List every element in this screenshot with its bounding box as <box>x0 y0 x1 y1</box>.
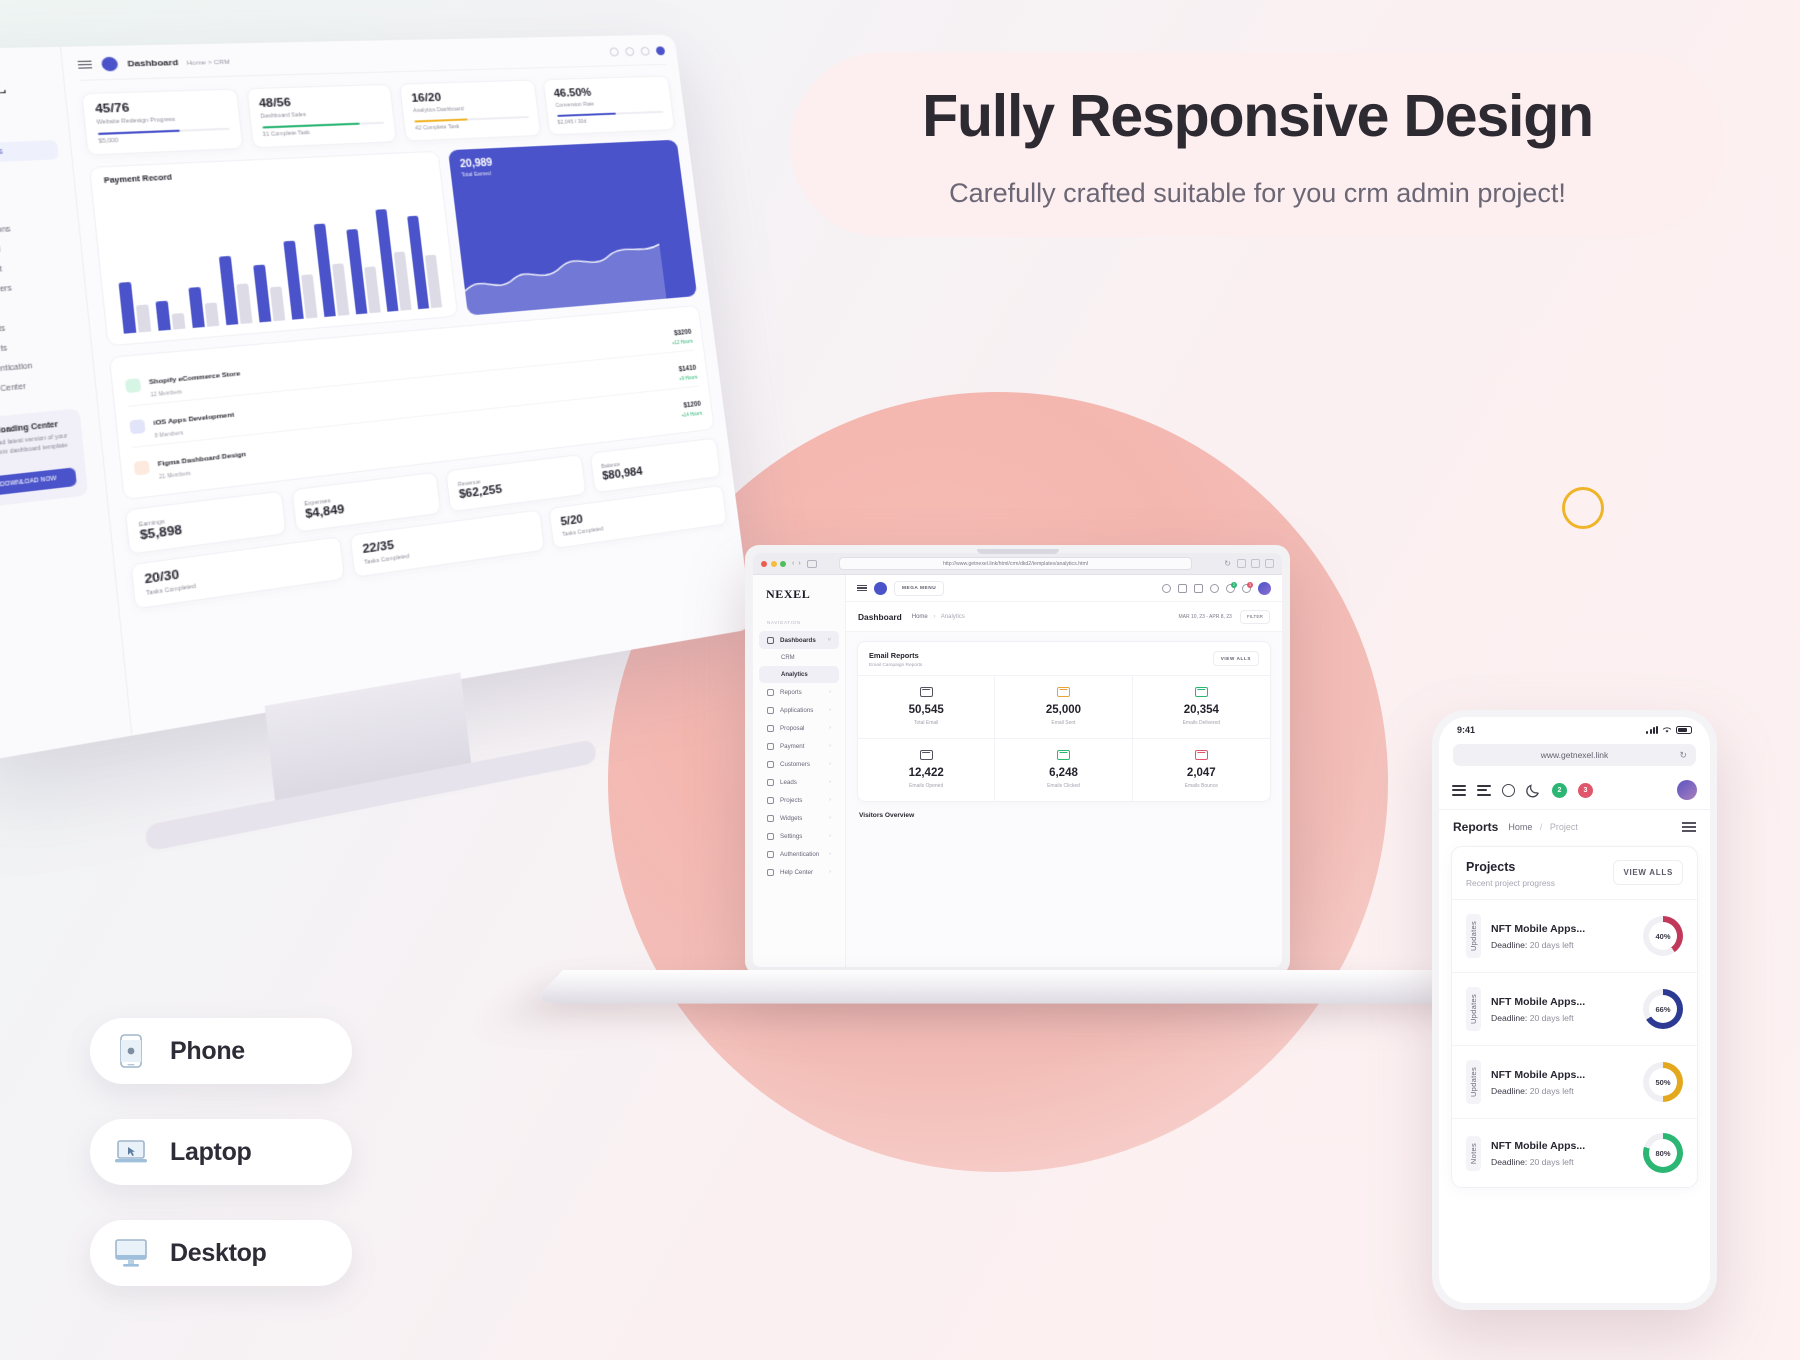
email-stat-emails-opened: 12,422 Emails Opened <box>858 738 995 801</box>
dashboard-icon <box>767 637 774 644</box>
help-icon <box>767 869 774 876</box>
url-text: www.getnexel.link <box>1541 750 1609 760</box>
device-pill-desktop[interactable]: Desktop <box>90 1220 352 1286</box>
email-stat-emails-delivered: 20,354 Emails Delivered <box>1133 675 1270 738</box>
search-icon[interactable] <box>609 47 619 56</box>
address-bar[interactable]: http://www.getnexel.link/html/crm/dkd2/t… <box>839 557 1193 570</box>
progress-percent: 66% <box>1649 995 1677 1023</box>
stat-amount: 31 Complete Task <box>262 127 385 138</box>
desktop-page-title: Dashboard <box>127 58 179 69</box>
laptop-base <box>531 970 1500 1004</box>
chevron-right-icon: › <box>933 614 935 620</box>
chevron-right-icon: › <box>829 743 831 749</box>
page-subtitle: Carefully crafted suitable for you crm a… <box>790 178 1725 209</box>
nav-label: Widgets <box>0 345 8 356</box>
moon-icon[interactable] <box>1526 783 1541 798</box>
laptop-logo: NEXEL <box>766 587 839 602</box>
sidebar-item-label: CRM <box>781 655 795 661</box>
stat-value: 50,545 <box>864 704 988 716</box>
laptop-main: MEGA MENU 2 3 <box>846 575 1282 967</box>
stat-card: 48/56 Dashboard Sales 31 Complete Task <box>246 84 398 149</box>
envelope-send-icon <box>1057 687 1070 697</box>
device-pill-label: Phone <box>170 1037 245 1066</box>
desktop-topbar-actions <box>609 46 665 56</box>
sidebar-item-label: Applications <box>780 707 813 714</box>
flag-icon[interactable] <box>1178 584 1187 593</box>
grid-icon[interactable]: 2 <box>1226 584 1235 593</box>
promo-desc: Download latest version of your crm admi… <box>0 432 74 469</box>
phone-breadcrumb-row: Reports Home / Project <box>1439 810 1710 843</box>
maximize-icon <box>780 561 786 567</box>
list-item[interactable]: Updates NFT Mobile Apps... Deadline: 20 … <box>1452 972 1697 1045</box>
status-indicators <box>1646 726 1692 734</box>
deadline-value: 20 days left <box>1530 940 1574 950</box>
laptop-mockup: ‹ › http://www.getnexel.link/html/crm/dk… <box>745 545 1290 975</box>
close-icon <box>761 561 767 567</box>
email-stat-email-sent: 25,000 Email Sent <box>995 675 1132 738</box>
stat-label: Email Sent <box>1001 720 1125 726</box>
laptop-sidebar: NEXEL NAVIGATION Dashboards ˅ CRM Analyt… <box>753 575 846 967</box>
project-amount: $1200 <box>683 401 701 410</box>
project-sub: 8 Members <box>155 425 236 439</box>
nav-label: Applications <box>0 226 11 237</box>
stat-amount: $5,000 <box>98 134 230 146</box>
progress-donut: 50% <box>1643 1062 1683 1102</box>
progress-percent: 80% <box>1649 1139 1677 1167</box>
sidebar-item-label: Help Center <box>780 869 813 876</box>
breadcrumb-current: Analytics <box>941 614 965 620</box>
project-icon <box>125 378 141 393</box>
envelope-open-icon <box>920 750 933 760</box>
proposal-icon <box>767 725 774 732</box>
payment-icon <box>767 743 774 750</box>
bell-badge[interactable]: 3 <box>1578 783 1593 798</box>
chevron-right-icon: › <box>829 689 831 695</box>
project-icon <box>134 460 150 475</box>
reload-icon[interactable]: ↻ <box>1224 559 1231 568</box>
mini-stat: Revenue $62,255 <box>445 454 586 513</box>
nav-label: Authentication <box>0 362 33 375</box>
battery-icon <box>1676 726 1692 734</box>
signal-icon <box>1646 726 1658 734</box>
desktop-nav-section: NAVIGATION <box>0 127 56 138</box>
laptop-screen: ‹ › http://www.getnexel.link/html/crm/dk… <box>753 553 1282 967</box>
sidebar-item-help-center[interactable]: Help Center› <box>759 863 839 881</box>
search-icon[interactable] <box>1162 584 1171 593</box>
nav-label: Projects <box>0 325 6 336</box>
lock-icon <box>767 851 774 858</box>
row-tag: Updates <box>1466 987 1481 1031</box>
chevron-right-icon: › <box>829 707 831 713</box>
reports-icon <box>767 689 774 696</box>
stat-amount: 42 Complete Task <box>415 121 530 132</box>
row-deadline: Deadline: 20 days left <box>1491 940 1585 950</box>
gear-icon <box>767 833 774 840</box>
stat-label: Website Redesign Progress <box>96 115 228 126</box>
laptop-app: NEXEL NAVIGATION Dashboards ˅ CRM Analyt… <box>753 575 1282 967</box>
project-amount: $3200 <box>674 329 692 338</box>
stat-value: 20,354 <box>1139 704 1264 716</box>
sidebar-item-proposal[interactable]: Proposal› <box>759 719 839 737</box>
device-pill-label: Desktop <box>170 1239 267 1268</box>
laptop-icon <box>112 1133 150 1171</box>
row-title: NFT Mobile Apps... <box>1491 923 1585 935</box>
brand-badge <box>874 582 887 595</box>
sidebar-item-label: Authentication <box>780 851 819 858</box>
chevron-right-icon: › <box>829 797 831 803</box>
phone-projects-card: Projects Recent project progress VIEW AL… <box>1451 846 1698 1188</box>
breadcrumb-home[interactable]: Home <box>1508 822 1532 832</box>
laptop-topbar-actions: 2 3 <box>1162 582 1271 595</box>
breadcrumb-current: Project <box>1550 822 1578 832</box>
stat-card: 46.50% Conversion Rate $2,045 / 30d <box>542 75 675 135</box>
desktop-screen: NEXEL NAVIGATION Dashboards CRM Analytic… <box>0 35 753 763</box>
sidebar-item-projects[interactable]: Projects› <box>759 791 839 809</box>
sidebar-item-dashboards[interactable]: Dashboards ˅ <box>759 631 839 649</box>
sidebar-item-label: Customers <box>780 761 810 768</box>
bell-icon[interactable]: 3 <box>1242 584 1251 593</box>
stat-card: 45/76 Website Redesign Progress $5,000 <box>81 88 243 156</box>
breadcrumb: Home › Analytics <box>912 614 965 620</box>
chevron-right-icon: › <box>829 815 831 821</box>
deadline-value: 20 days left <box>1530 1086 1574 1096</box>
email-reports-card: Email Reports Email Campaign Reports VIE… <box>857 641 1271 802</box>
desktop-logo: NEXEL <box>0 78 52 101</box>
menu-icon[interactable] <box>78 60 93 69</box>
projects-title: Projects <box>1466 860 1555 874</box>
stat-value: 25,000 <box>1001 704 1125 716</box>
promo-download-button[interactable]: DOWNLOAD NOW <box>0 467 77 497</box>
breadcrumb: Home / Project <box>1508 822 1578 832</box>
stat-value: 6,248 <box>1001 767 1125 779</box>
sidebar-item-leads[interactable]: Leads› <box>759 773 839 791</box>
stat-label: Analytics Dashboard <box>413 104 528 114</box>
grid-badge: 2 <box>1231 582 1237 588</box>
minimize-icon <box>771 561 777 567</box>
nav-label: Customers <box>0 285 12 296</box>
sidebar-item-widgets[interactable]: Widgets› <box>759 809 839 827</box>
sidebar-toggle-icon[interactable] <box>807 560 817 568</box>
row-title: NFT Mobile Apps... <box>1491 996 1585 1008</box>
laptop-page-actions: MAR 10, 23 - APR 8, 23 FILTER <box>1178 610 1270 624</box>
list-item[interactable]: Updates NFT Mobile Apps... Deadline: 20 … <box>1452 1045 1697 1118</box>
share-icon[interactable] <box>1237 559 1246 568</box>
laptop-notch <box>977 549 1059 554</box>
sidebar-item-settings[interactable]: Settings› <box>759 827 839 845</box>
sidebar-item-applications[interactable]: Applications› <box>759 701 839 719</box>
grid-icon[interactable] <box>625 47 635 56</box>
options-icon[interactable] <box>1682 822 1696 832</box>
traffic-lights[interactable] <box>761 561 786 567</box>
project-growth: +14 Hours <box>681 411 702 418</box>
list-item[interactable]: Notes NFT Mobile Apps... Deadline: 20 da… <box>1452 1118 1697 1187</box>
filter-button[interactable]: FILTER <box>1240 610 1270 624</box>
phone-page-title: Reports <box>1453 820 1498 834</box>
avatar[interactable] <box>1258 582 1271 595</box>
sidebar-item-label: Settings <box>780 833 802 840</box>
laptop-topbar: MEGA MENU 2 3 <box>846 575 1282 602</box>
area-chart <box>458 221 666 316</box>
phone-screen: 9:41 www.getnexel.link ↻ <box>1439 717 1710 1303</box>
sidebar-item-label: Proposal <box>780 725 804 732</box>
search-icon[interactable] <box>1502 784 1515 797</box>
leads-icon <box>767 779 774 786</box>
stat-value: 46.50% <box>553 84 661 99</box>
poster-canvas: Fully Responsive Design Carefully crafte… <box>0 0 1800 1360</box>
sidebar-item-authentication[interactable]: Authentication› <box>759 845 839 863</box>
sidebar-item-label: Leads <box>780 779 797 786</box>
phone-icon <box>112 1032 150 1070</box>
chevron-right-icon: › <box>829 761 831 767</box>
wifi-icon <box>1662 726 1672 734</box>
laptop-nav-section: NAVIGATION <box>767 620 839 625</box>
row-title: NFT Mobile Apps... <box>1491 1140 1585 1152</box>
chevron-right-icon: › <box>829 869 831 875</box>
mini-stat: Expenses $4,849 <box>291 472 442 533</box>
laptop-lid: ‹ › http://www.getnexel.link/html/crm/dk… <box>745 545 1290 975</box>
email-stat-emails-clicked: 6,248 Emails Clicked <box>995 738 1132 801</box>
avatar[interactable] <box>656 46 666 55</box>
deadline-label: Deadline: <box>1491 1013 1527 1023</box>
add-tab-icon[interactable] <box>1251 559 1260 568</box>
row-tag: Notes <box>1466 1136 1481 1171</box>
phone-status-bar: 9:41 <box>1439 717 1710 739</box>
chevron-right-icon: › <box>829 779 831 785</box>
chevron-right-icon: / <box>1540 822 1543 832</box>
chevron-right-icon: › <box>829 851 831 857</box>
project-amount: $1410 <box>679 365 697 374</box>
stat-label: Emails Clicked <box>1001 783 1125 789</box>
nav-label: Dashboards <box>0 148 3 158</box>
deadline-label: Deadline: <box>1491 1086 1527 1096</box>
page-title: Fully Responsive Design <box>790 84 1725 149</box>
row-tag: Updates <box>1466 1060 1481 1104</box>
project-growth: +9 Hours <box>679 375 698 382</box>
sidebar-item-label: Dashboards <box>780 637 816 644</box>
reload-icon[interactable]: ↻ <box>1679 750 1687 761</box>
widgets-icon <box>767 815 774 822</box>
stat-label: Emails Delivered <box>1139 720 1264 726</box>
phone-address-bar[interactable]: www.getnexel.link ↻ <box>1453 744 1696 766</box>
fullscreen-icon[interactable] <box>1194 584 1203 593</box>
envelope-icon <box>920 687 933 697</box>
back-icon[interactable]: ‹ <box>792 560 794 567</box>
sidebar-item-payment[interactable]: Payment› <box>759 737 839 755</box>
stat-value: 2,047 <box>1139 767 1264 779</box>
device-pill-phone[interactable]: Phone <box>90 1018 352 1084</box>
row-deadline: Deadline: 20 days left <box>1491 1086 1585 1096</box>
sidebar-item-analytics[interactable]: Analytics <box>759 666 839 683</box>
payment-record-chart: Payment Record <box>89 151 458 347</box>
sidebar-item-label: Projects <box>780 797 802 804</box>
stat-amount: $2,045 / 30d <box>557 116 664 126</box>
row-deadline: Deadline: 20 days left <box>1491 1157 1585 1167</box>
url-text: http://www.getnexel.link/html/crm/dkd2/t… <box>943 561 1088 567</box>
desktop-topbar: Dashboard Home > CRM <box>77 44 666 80</box>
date-range[interactable]: MAR 10, 23 - APR 8, 23 <box>1178 614 1231 620</box>
browser-chrome: ‹ › http://www.getnexel.link/html/crm/dk… <box>753 553 1282 575</box>
list-item[interactable]: Updates NFT Mobile Apps... Deadline: 20 … <box>1452 899 1697 972</box>
list-icon[interactable] <box>1477 785 1491 796</box>
bar-group <box>110 197 152 334</box>
mini-stat: Balance $80,984 <box>589 438 721 494</box>
stat-value: 48/56 <box>258 94 382 111</box>
stat-label: Emails Opened <box>864 783 988 789</box>
sidebar-item-crm[interactable]: CRM <box>759 649 839 666</box>
bar-group <box>144 196 185 332</box>
device-pill-laptop[interactable]: Laptop <box>90 1119 352 1185</box>
nav-label: Payment <box>0 266 3 276</box>
projects-subtitle: Recent project progress <box>1466 878 1555 888</box>
row-tag: Updates <box>1466 914 1481 958</box>
stat-value: 12,422 <box>864 767 988 779</box>
stat-label: Conversion Rate <box>555 99 662 109</box>
email-stat-total-email: 50,545 Total Email <box>858 675 995 738</box>
project-sub: 12 Members <box>150 384 242 399</box>
forward-icon[interactable]: › <box>798 560 800 567</box>
progress-donut: 66% <box>1643 989 1683 1029</box>
envelope-click-icon <box>1057 750 1070 760</box>
bell-icon[interactable] <box>640 47 650 56</box>
laptop-page-title: Dashboard <box>858 612 902 622</box>
desktop-icon <box>112 1234 150 1272</box>
projects-icon <box>767 797 774 804</box>
tabs-icon[interactable] <box>1265 559 1274 568</box>
laptop-content: Email Reports Email Campaign Reports VIE… <box>846 632 1282 967</box>
sidebar-item-customers[interactable]: Customers› <box>759 755 839 773</box>
laptop-breadcrumb-row: Dashboard Home › Analytics MAR 10, 23 - … <box>846 602 1282 632</box>
phone-mockup: 9:41 www.getnexel.link ↻ <box>1432 710 1717 1310</box>
menu-icon[interactable] <box>1452 785 1466 796</box>
deadline-label: Deadline: <box>1491 940 1527 950</box>
total-earned-card: 20,989 Total Earned <box>448 140 698 316</box>
row-title: NFT Mobile Apps... <box>1491 1069 1585 1081</box>
email-reports-title: Email Reports <box>869 651 922 660</box>
mini-stat: Earnings $5,898 <box>125 491 287 555</box>
chevron-right-icon: › <box>829 833 831 839</box>
sidebar-item-label: Widgets <box>780 815 802 822</box>
email-reports-header: Email Reports Email Campaign Reports VIE… <box>858 642 1270 675</box>
progress-donut: 40% <box>1643 916 1683 956</box>
progress-percent: 40% <box>1649 922 1677 950</box>
phone-appbar: 2 3 <box>1439 773 1710 810</box>
sidebar-item-reports[interactable]: Reports› <box>759 683 839 701</box>
progress-donut: 80% <box>1643 1133 1683 1173</box>
stat-value: 16/20 <box>411 89 526 105</box>
sidebar-item-label: Reports <box>780 689 802 696</box>
progress-percent: 50% <box>1649 1068 1677 1096</box>
nav-label: Help Center <box>0 383 26 395</box>
breadcrumb-home[interactable]: Home <box>912 614 928 620</box>
deadline-value: 20 days left <box>1530 1013 1574 1023</box>
yellow-ring-decoration <box>1562 487 1604 529</box>
desktop-crumb-path: Home > CRM <box>187 60 231 68</box>
row-deadline: Deadline: 20 days left <box>1491 1013 1585 1023</box>
chart-title: Payment Record <box>104 162 429 186</box>
projects-header: Projects Recent project progress VIEW AL… <box>1452 847 1697 899</box>
sidebar-item-label: Payment <box>780 743 804 750</box>
stat-label: Total Email <box>864 720 988 726</box>
desktop-breadcrumb: Dashboard Home > CRM <box>127 56 230 68</box>
stat-value: 45/76 <box>95 99 228 117</box>
email-stat-emails-bounce: 2,047 Emails Bounce <box>1133 738 1270 801</box>
bell-badge: 3 <box>1247 582 1253 588</box>
stat-label: Emails Bounce <box>1139 783 1264 789</box>
customers-icon <box>767 761 774 768</box>
stat-card: 16/20 Analytics Dashboard 42 Complete Ta… <box>399 79 541 142</box>
email-stats-grid: 50,545 Total Email 25,000 Email Sent <box>858 675 1270 801</box>
envelope-check-icon <box>1195 687 1208 697</box>
chevron-right-icon: › <box>829 725 831 731</box>
visitors-overview-title: Visitors Overview <box>859 812 1269 819</box>
avatar[interactable] <box>1677 780 1697 800</box>
stat-label: Dashboard Sales <box>260 109 383 120</box>
deadline-value: 20 days left <box>1530 1157 1574 1167</box>
chevron-down-icon: ˅ <box>828 637 831 643</box>
applications-icon <box>767 707 774 714</box>
brand-avatar <box>101 57 119 72</box>
bar-chart <box>106 182 445 335</box>
project-icon <box>129 419 145 434</box>
grid-badge[interactable]: 2 <box>1552 783 1567 798</box>
browser-nav[interactable]: ‹ › <box>792 560 801 567</box>
bar-group <box>178 194 219 329</box>
desktop-main: Dashboard Home > CRM 45/76 Website Redes… <box>61 35 753 736</box>
view-all-button[interactable]: VIEW ALLS <box>1613 860 1683 885</box>
desktop-promo-card: Downloading Center Download latest versi… <box>0 408 88 508</box>
nav-label: Proposal <box>0 246 1 256</box>
email-reports-subtitle: Email Campaign Reports <box>869 663 922 668</box>
deadline-label: Deadline: <box>1491 1157 1527 1167</box>
status-time: 9:41 <box>1457 725 1475 735</box>
view-all-button[interactable]: VIEW ALLS <box>1213 651 1259 666</box>
mega-menu-button[interactable]: MEGA MENU <box>894 581 944 596</box>
browser-tools <box>1237 559 1274 568</box>
envelope-bounce-icon <box>1195 750 1208 760</box>
project-growth: +12 Hours <box>672 339 693 346</box>
device-pill-label: Laptop <box>170 1138 252 1167</box>
sidebar-item-label: Analytics <box>781 672 808 678</box>
menu-icon[interactable] <box>857 585 867 592</box>
moon-icon[interactable] <box>1210 584 1219 593</box>
